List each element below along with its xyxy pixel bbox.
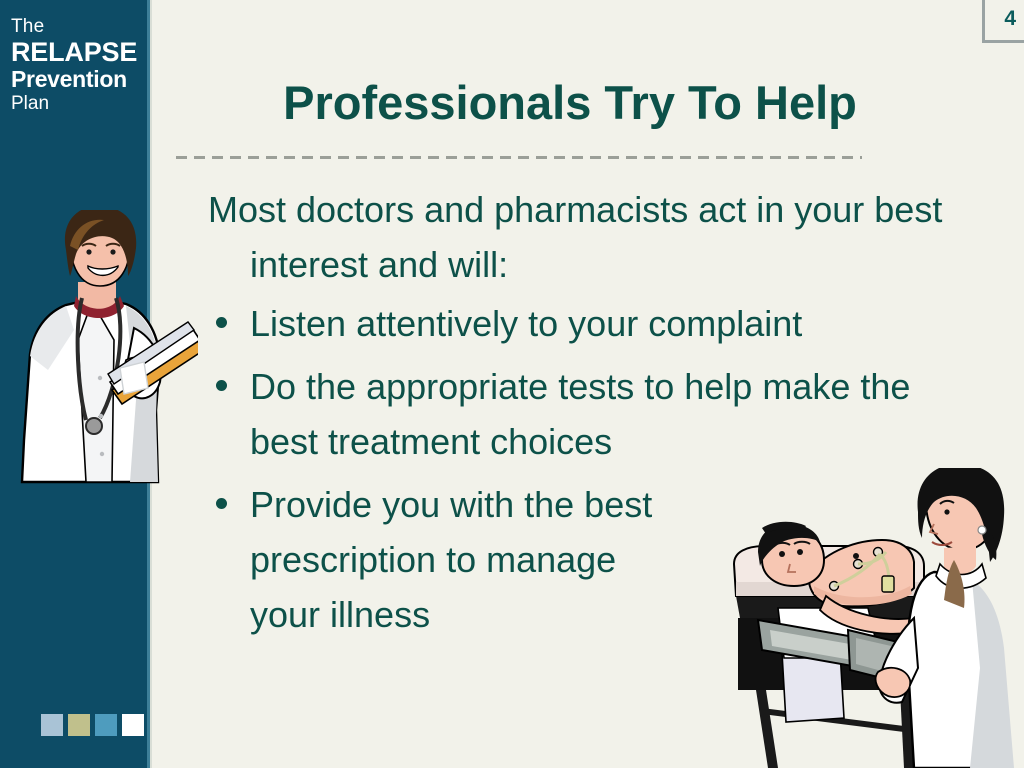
swatch-blue <box>95 714 117 736</box>
bullet-line-2: best treatment choices <box>250 414 998 469</box>
swatch-white <box>122 714 144 736</box>
bullet-dot-icon <box>216 380 227 391</box>
page-number: 4 <box>1004 8 1016 29</box>
logo-line-plan: Plan <box>11 94 143 113</box>
brand-logo: The RELAPSE Prevention Plan <box>11 17 143 113</box>
bullet-dot-icon <box>216 498 227 509</box>
list-item: Do the appropriate tests to help make th… <box>208 359 998 469</box>
logo-line-prevention: Prevention <box>11 68 143 91</box>
intro-line-2: interest and will: <box>250 237 998 292</box>
list-item: Listen attentively to your complaint <box>208 296 998 351</box>
swatch-khaki <box>68 714 90 736</box>
bullet-line-1: Do the appropriate tests to help make th… <box>250 359 998 414</box>
logo-line-the: The <box>11 17 143 36</box>
bullet-line-1: Listen attentively to your complaint <box>250 296 998 351</box>
bullet-dot-icon <box>216 317 227 328</box>
logo-line-relapse: RELAPSE <box>11 39 143 66</box>
slide-title: Professionals Try To Help <box>170 77 970 129</box>
page-number-box <box>982 0 1024 43</box>
slide-canvas: The RELAPSE Prevention Plan <box>0 0 1024 768</box>
intro-line-1: Most doctors and pharmacists act in your… <box>208 182 998 237</box>
title-divider <box>176 156 862 159</box>
intro-paragraph: Most doctors and pharmacists act in your… <box>208 182 998 292</box>
doctor-sidebar-illustration <box>8 210 198 485</box>
color-swatch-row <box>41 714 144 736</box>
swatch-light-blue <box>41 714 63 736</box>
exam-scene-illustration <box>718 468 1024 768</box>
